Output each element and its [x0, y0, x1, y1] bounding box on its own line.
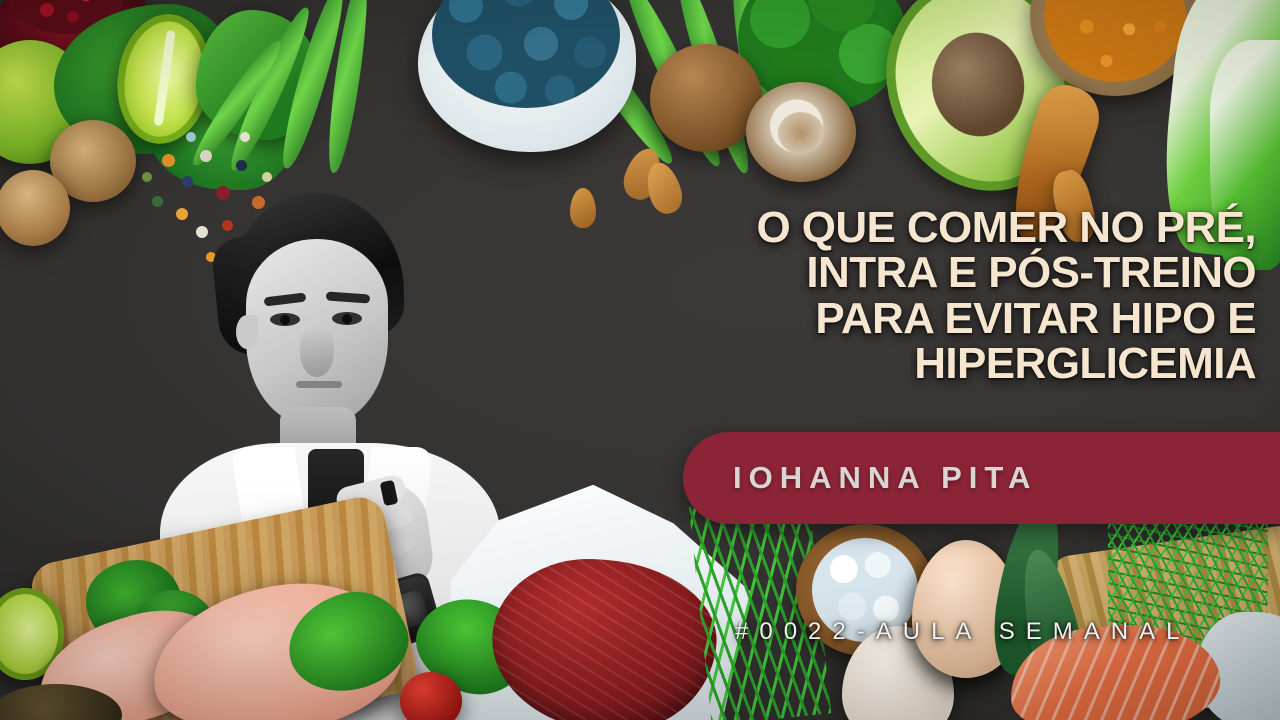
presenter-name: IOHANNA PITA	[733, 432, 1037, 524]
title-line-1: O QUE COMER NO PRÉ,	[736, 205, 1256, 250]
title-line-3: PARA EVITAR HIPO E	[736, 296, 1256, 341]
page-title: O QUE COMER NO PRÉ, INTRA E PÓS-TREINO P…	[736, 205, 1256, 386]
youtube-thumbnail: O QUE COMER NO PRÉ, INTRA E PÓS-TREINO P…	[0, 0, 1280, 720]
episode-label: #0022-AULA SEMANAL	[735, 618, 1190, 646]
presenter-name-banner: IOHANNA PITA	[683, 432, 1280, 524]
title-line-4: HIPERGLICEMIA	[736, 341, 1256, 386]
title-line-2: INTRA E PÓS-TREINO	[736, 250, 1256, 295]
